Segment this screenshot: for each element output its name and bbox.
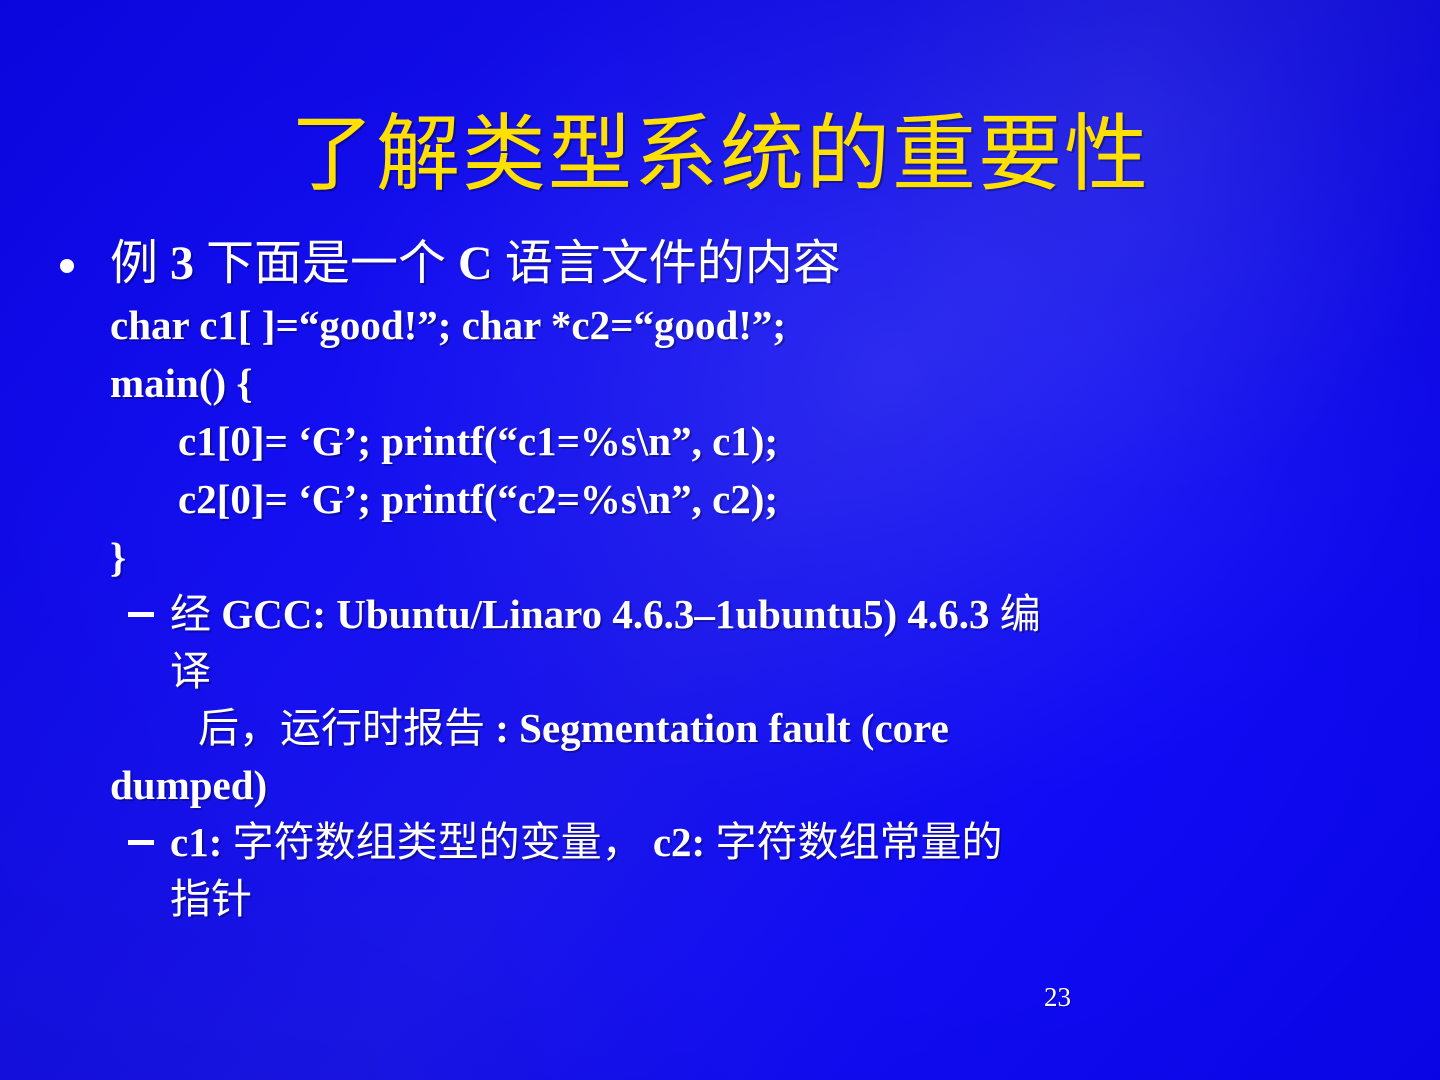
- code-line-main-close: }: [0, 528, 1440, 586]
- sub-bullet-types-wrap: 指针: [0, 871, 1440, 928]
- sub-bullet-types: c1: 字符数组类型的变量， c2: 字符数组常量的: [0, 814, 1440, 871]
- var-c2-label: c2:: [653, 819, 705, 865]
- var-c1-description: 字符数组类型的变量，: [233, 819, 643, 865]
- runtime-report-cjk: 后，运行时报告: [198, 705, 485, 751]
- bullet-item-example: 例 3 下面是一个 C 语言文件的内容: [0, 232, 1440, 296]
- runtime-error-message: Segmentation fault (core: [519, 705, 949, 751]
- code-line-stmt-c2: c2[0]= ‘G’; printf(“c2=%s\n”, c2);: [0, 470, 1440, 528]
- slide-body: 例 3 下面是一个 C 语言文件的内容 char c1[ ]=“good!”; …: [0, 232, 1440, 928]
- bullet-dot-icon: [60, 259, 74, 273]
- var-c1-label: c1:: [170, 819, 222, 865]
- compile-cjk-prefix: 经: [170, 591, 211, 637]
- runtime-report-line: 后，运行时报告 : Segmentation fault (core: [0, 700, 1440, 757]
- var-c2-description: 字符数组常量的: [715, 819, 1002, 865]
- sub-bullet-compile-wrap: 译: [0, 643, 1440, 700]
- bullet-text: 下面是一个: [206, 237, 446, 290]
- runtime-error-message-wrap: dumped): [0, 757, 1440, 814]
- compiler-version: GCC: Ubuntu/Linaro 4.6.3–1ubuntu5) 4.6.3: [221, 591, 989, 637]
- page-number: 23: [1044, 984, 1071, 1011]
- bullet-prefix: 例: [110, 237, 158, 290]
- slide-canvas: 了解类型系统的重要性 例 3 下面是一个 C 语言文件的内容 char c1[ …: [0, 0, 1440, 1080]
- code-line-main-open: main() {: [0, 354, 1440, 412]
- dash-bullet-icon: [128, 840, 154, 845]
- bullet-language: C: [458, 237, 493, 290]
- runtime-report-separator: :: [495, 705, 519, 751]
- bullet-suffix: 语言文件的内容: [505, 237, 841, 290]
- dash-bullet-icon: [128, 612, 154, 617]
- bullet-number: 3: [170, 237, 194, 290]
- compile-cjk-suffix: 编: [1000, 591, 1041, 637]
- code-line-stmt-c1: c1[0]= ‘G’; printf(“c1=%s\n”, c1);: [0, 412, 1440, 470]
- slide-title: 了解类型系统的重要性: [0, 114, 1440, 198]
- code-line-declarations: char c1[ ]=“good!”; char *c2=“good!”;: [0, 296, 1440, 354]
- sub-bullet-compile: 经 GCC: Ubuntu/Linaro 4.6.3–1ubuntu5) 4.6…: [0, 586, 1440, 643]
